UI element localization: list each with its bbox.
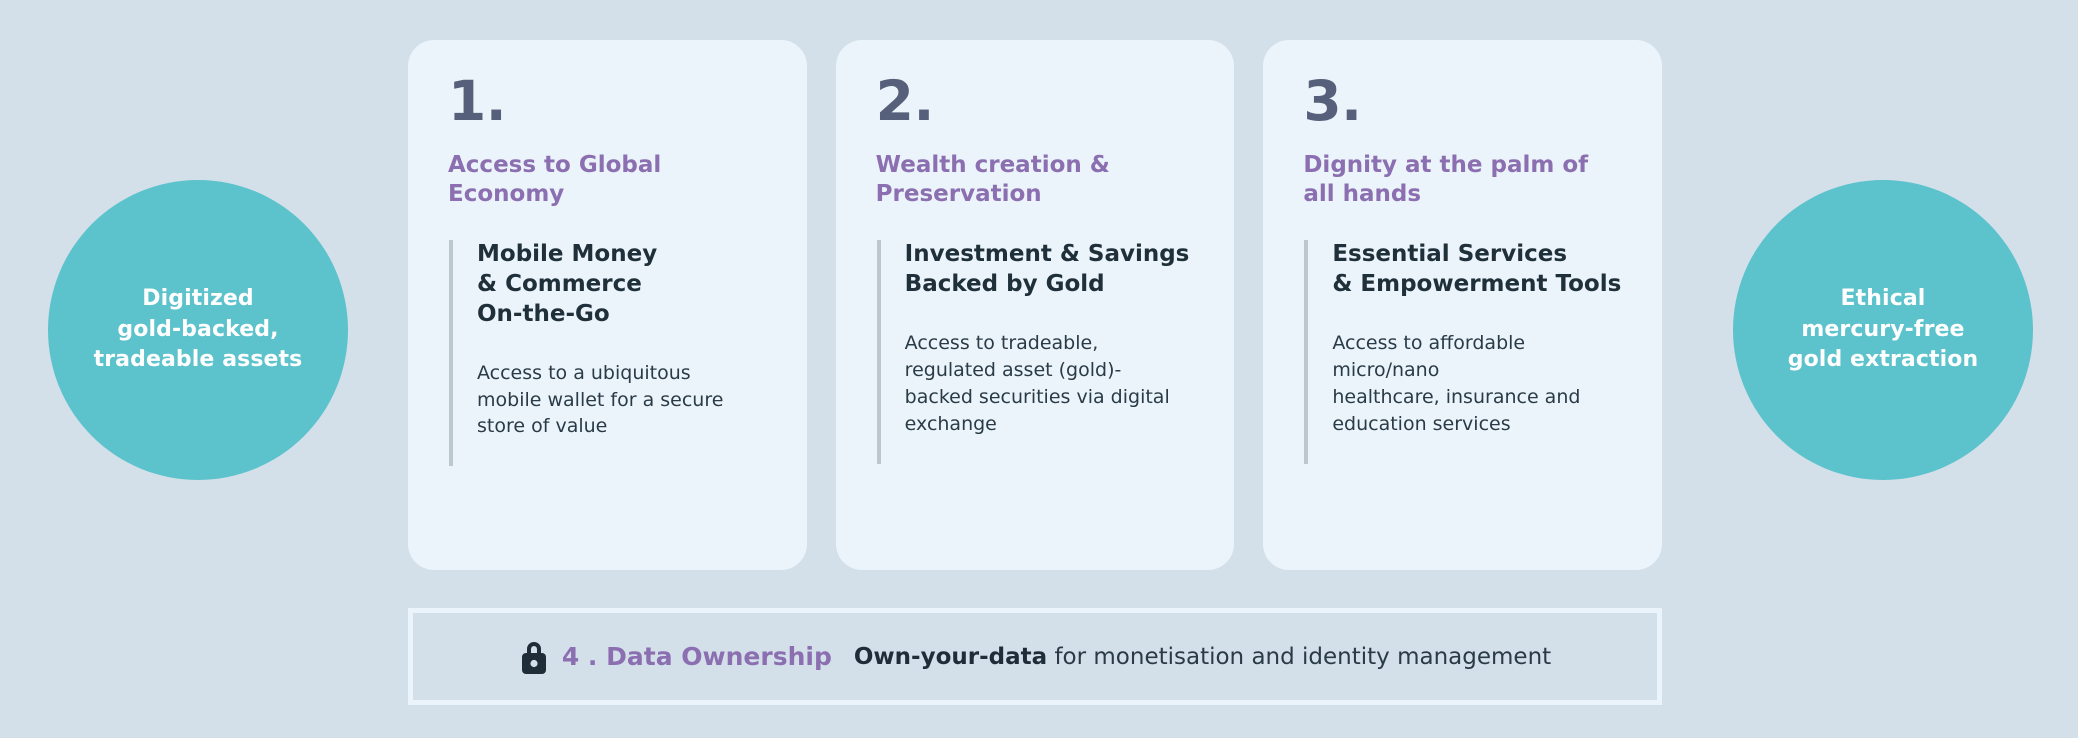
card-number: 1. (448, 74, 767, 129)
card-title: Wealth creation & Preservation (876, 151, 1195, 210)
pillar-card-1: 1. Access to Global Economy Mobile Money… (408, 40, 807, 570)
left-benefit-circle: Digitized gold-backed, tradeable assets (48, 180, 348, 480)
data-ownership-strong-text: Own-your-data (854, 644, 1047, 670)
card-detail-body: Access to tradeable, regulated asset (go… (905, 330, 1195, 464)
pillar-card-3: 3. Dignity at the palm of all hands Esse… (1263, 40, 1662, 570)
card-detail-block: Mobile Money & Commerce On-the-Go Access… (449, 240, 767, 467)
card-title: Access to Global Economy (448, 151, 767, 210)
left-circle-label: Digitized gold-backed, tradeable assets (94, 284, 303, 375)
card-detail-heading: Investment & Savings Backed by Gold (905, 240, 1195, 300)
data-ownership-label: 4 . Data Ownership (562, 642, 832, 671)
card-title: Dignity at the palm of all hands (1303, 151, 1622, 210)
lock-icon (519, 639, 549, 675)
right-benefit-circle: Ethical mercury-free gold extraction (1733, 180, 2033, 480)
data-ownership-bar-content: 4 . Data Ownership Own-your-data for mon… (519, 639, 1551, 675)
pillar-cards-container: 1. Access to Global Economy Mobile Money… (408, 40, 1662, 570)
card-detail-body: Access to a ubiquitous mobile wallet for… (477, 360, 767, 467)
card-detail-block: Investment & Savings Backed by Gold Acce… (877, 240, 1195, 464)
right-circle-label: Ethical mercury-free gold extraction (1788, 284, 1979, 375)
pillar-card-2: 2. Wealth creation & Preservation Invest… (836, 40, 1235, 570)
card-detail-body: Access to affordable micro/nano healthca… (1332, 330, 1622, 464)
card-detail-heading: Essential Services & Empowerment Tools (1332, 240, 1622, 300)
card-number: 3. (1303, 74, 1622, 129)
card-number: 2. (876, 74, 1195, 129)
card-detail-heading: Mobile Money & Commerce On-the-Go (477, 240, 767, 330)
data-ownership-bar: 4 . Data Ownership Own-your-data for mon… (408, 608, 1662, 705)
card-detail-block: Essential Services & Empowerment Tools A… (1304, 240, 1622, 464)
data-ownership-rest-text: for monetisation and identity management (1047, 644, 1551, 670)
